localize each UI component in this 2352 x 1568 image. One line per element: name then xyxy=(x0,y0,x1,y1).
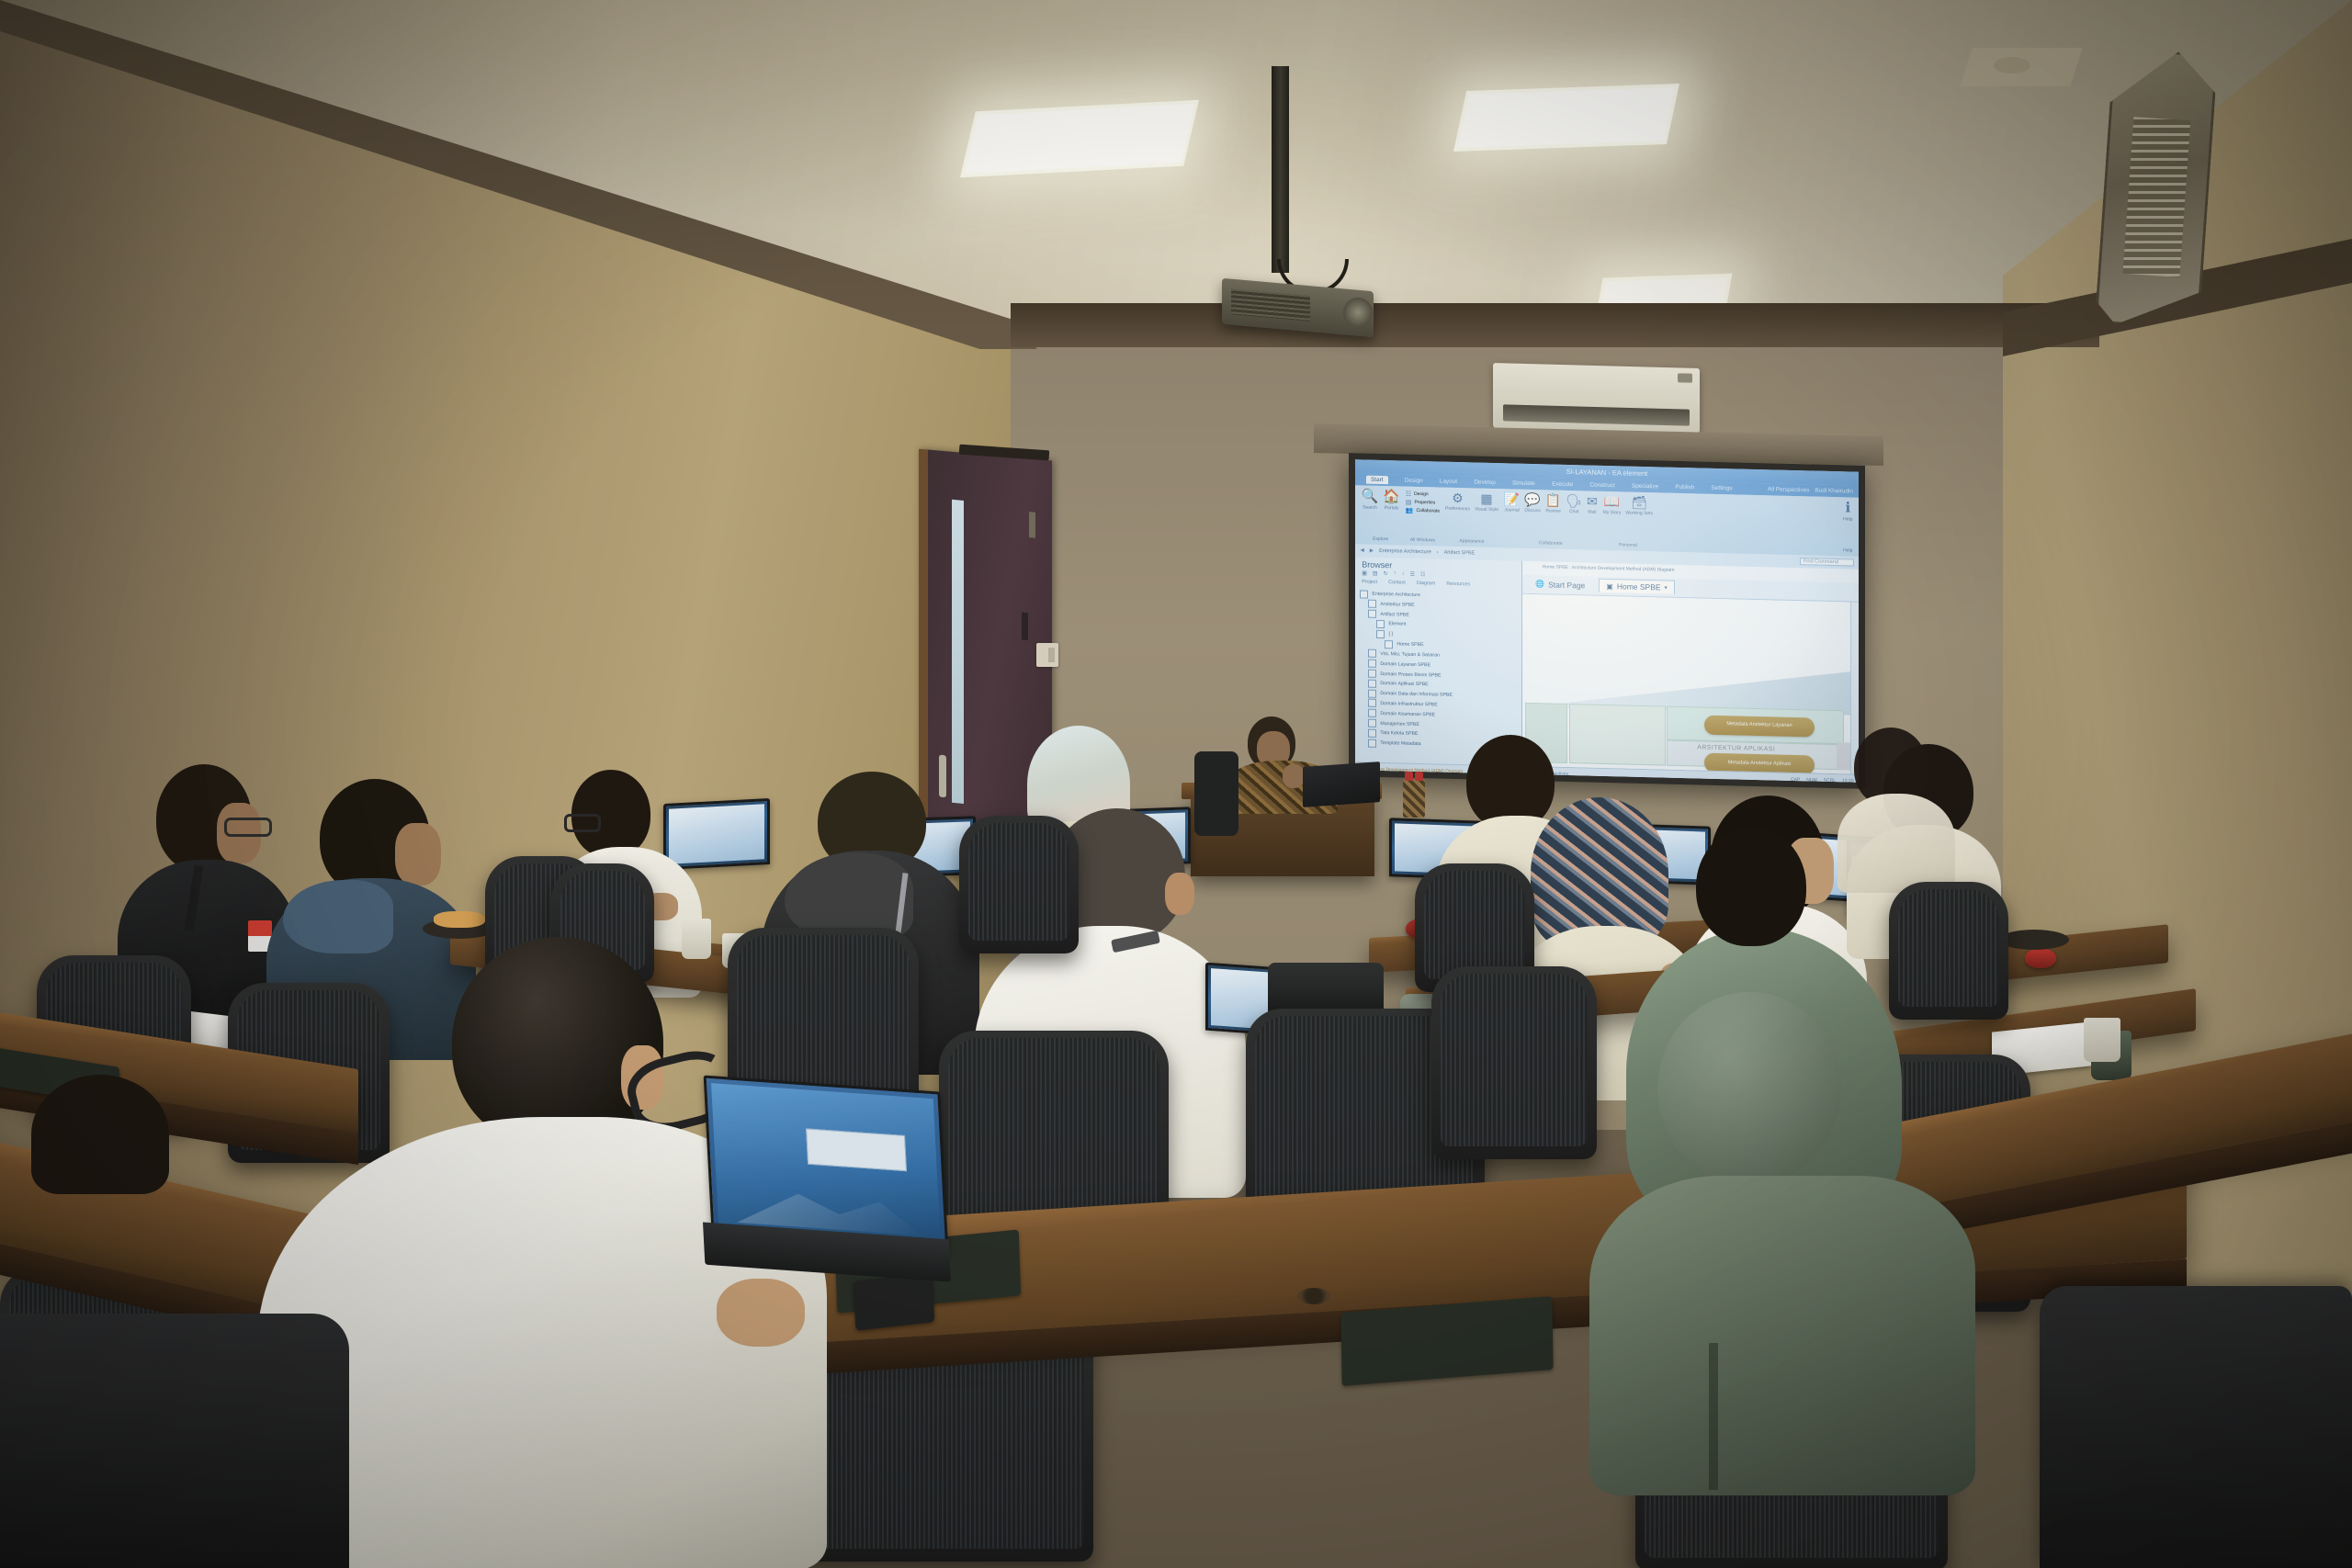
drinking-glass xyxy=(2084,1018,2120,1062)
desktop-dialog-window xyxy=(806,1128,907,1171)
chair-foreground-right[interactable] xyxy=(2040,1286,2352,1568)
status-scrl: SCRL xyxy=(1824,777,1836,782)
plaque-engraving xyxy=(2122,117,2190,277)
browser-tab-diagram[interactable]: Diagram xyxy=(1417,581,1435,586)
perspective-selector[interactable]: All Perspectives xyxy=(1768,486,1809,493)
note-icon[interactable]: 📝 Journal xyxy=(1504,492,1520,513)
head xyxy=(31,1075,169,1194)
breadcrumb-leaf[interactable]: Artifact SPBE xyxy=(1444,550,1476,557)
tab-publish[interactable]: Publish xyxy=(1675,484,1694,491)
projector-lens-icon xyxy=(1343,298,1373,327)
package-icon xyxy=(1368,679,1376,687)
light-switch[interactable] xyxy=(1036,643,1058,667)
search-icon[interactable]: 🔍 Search xyxy=(1362,489,1379,510)
ribbon-group-all-windows: ☷ Design ▤ Properties 👥 Collaborate All … xyxy=(1406,490,1440,543)
person-green-jacket xyxy=(1589,928,1984,1497)
head xyxy=(1696,827,1806,946)
tab-design[interactable]: Design xyxy=(1405,478,1423,484)
home-icon[interactable]: 🏠 Portals xyxy=(1383,490,1400,511)
document-path-label: Home SPBE : Architecture Development Met… xyxy=(1543,565,1675,574)
back-icon[interactable]: ◀ xyxy=(1360,548,1363,554)
presenter-hand xyxy=(1283,764,1305,788)
browser-tab-resources[interactable]: Resources xyxy=(1446,581,1470,588)
tab-home-spbe[interactable]: ▣ Home SPBE ▾ xyxy=(1599,579,1674,594)
ea-main-body: Browser ▣ ▤ ↻ ↑ ↓ ☰ ☷ Project Context Di… xyxy=(1355,557,1859,773)
office-chair[interactable] xyxy=(959,816,1079,953)
properties-icon[interactable]: ☷ xyxy=(1420,571,1425,578)
globe-icon: 🌐 xyxy=(1535,580,1544,588)
jacket-seam xyxy=(1709,1343,1718,1490)
projection-screen: SI-LAYANAN - EA element Start Design Lay… xyxy=(1349,453,1865,789)
status-num: NUM xyxy=(1806,777,1816,783)
chat-pair-icon[interactable]: 💬 Discuss xyxy=(1524,492,1541,513)
tab-specialize[interactable]: Specialize xyxy=(1632,483,1658,491)
status-cap: CAP xyxy=(1791,777,1800,783)
package-icon xyxy=(1368,670,1376,678)
desk-pad xyxy=(1340,1296,1553,1386)
hood-fold xyxy=(1657,992,1841,1185)
tab-simulate[interactable]: Simulate xyxy=(1512,480,1535,488)
new-diagram-icon[interactable]: ▣ xyxy=(1362,570,1367,576)
panel-icon[interactable]: ▤ xyxy=(1406,498,1412,505)
chat-icon[interactable]: 🗣 Chat xyxy=(1566,494,1582,514)
tab-start-page[interactable]: 🌐 Start Page xyxy=(1529,578,1591,592)
move-up-icon[interactable]: ↑ xyxy=(1394,570,1396,577)
thermos-cap xyxy=(1415,772,1423,781)
braces-icon xyxy=(1376,630,1385,638)
refresh-icon[interactable]: ↻ xyxy=(1384,570,1388,577)
move-down-icon[interactable]: ↓ xyxy=(1402,570,1405,577)
ribbon-group-explore: 🔍 Search 🏠 Portals Explore xyxy=(1362,489,1400,542)
package-icon xyxy=(1368,729,1376,738)
door-vision-panel xyxy=(952,500,964,804)
window-icon[interactable]: ☷ xyxy=(1406,490,1411,497)
projector-mount-pole xyxy=(1272,66,1289,273)
door-lock-plate xyxy=(1022,612,1028,640)
snack-plate xyxy=(1999,930,2069,950)
chair-foreground-left[interactable] xyxy=(0,1314,349,1568)
package-icon xyxy=(1368,699,1376,707)
presenter-laptop xyxy=(1303,761,1380,807)
group-label: Appearance xyxy=(1460,538,1485,545)
ribbon-group-collaborate: 📝 Journal 💬 Discuss 📋 Review 🗣 xyxy=(1504,492,1598,547)
ceiling-light-panel xyxy=(960,100,1199,177)
chevron-right-icon: › xyxy=(1437,550,1439,556)
package-icon xyxy=(1368,689,1376,697)
switch-toggle[interactable] xyxy=(1048,648,1055,662)
browser-tab-context[interactable]: Context xyxy=(1388,580,1406,585)
ribbon-group-personal: 📖 My Diary 🗃 Working Sets Personal xyxy=(1603,495,1653,549)
red-mouse[interactable] xyxy=(2025,948,2056,968)
mail-icon[interactable]: ✉ Mail xyxy=(1587,494,1598,514)
ribbon-group-appearance: ⚙ Preferences ▦ Visual Style Appearance xyxy=(1445,491,1498,545)
filter-icon[interactable]: ☰ xyxy=(1410,570,1415,577)
forward-icon[interactable]: ▶ xyxy=(1370,548,1374,554)
tab-start[interactable]: Start xyxy=(1366,476,1388,485)
find-command-input[interactable]: Find Command xyxy=(1800,558,1854,566)
diagram-icon: ▣ xyxy=(1606,582,1613,591)
package-icon xyxy=(1368,660,1376,668)
tab-layout[interactable]: Layout xyxy=(1440,479,1457,485)
book-icon[interactable]: 📖 My Diary xyxy=(1603,495,1622,515)
group-label: All Windows xyxy=(1410,537,1435,544)
ac-vent xyxy=(1503,404,1690,426)
ribbon-group-help: ℹ Help Help xyxy=(1843,501,1852,554)
office-chair[interactable] xyxy=(1431,966,1597,1159)
folder-icon xyxy=(1360,590,1368,598)
training-room-photo: SI-LAYANAN - EA element Start Design Lay… xyxy=(0,0,2352,1568)
package-icon xyxy=(1368,739,1376,747)
palette-icon[interactable]: ▦ Visual Style xyxy=(1475,491,1498,513)
snack-food xyxy=(434,911,485,928)
person-front-mid-dark xyxy=(4,1075,279,1350)
person-far-right-pair xyxy=(1837,728,1957,893)
projected-image: SI-LAYANAN - EA element Start Design Lay… xyxy=(1355,459,1859,782)
tab-construct[interactable]: Construct xyxy=(1589,482,1614,490)
diagram-icon xyxy=(1385,640,1393,649)
face-profile xyxy=(395,823,441,886)
browser-tab-project[interactable]: Project xyxy=(1362,580,1377,585)
eyeglasses-icon xyxy=(564,814,601,832)
group-label: Explore xyxy=(1373,536,1388,542)
pill-metadata-arsitektur-layanan[interactable]: Metadata Arsitektur Layanan xyxy=(1704,716,1815,738)
element-icon xyxy=(1376,620,1385,628)
review-icon[interactable]: 📋 Review xyxy=(1545,493,1561,513)
gear-person-icon[interactable]: ⚙ Preferences xyxy=(1445,491,1470,512)
user-account-label[interactable]: Budi Khairudin xyxy=(1815,488,1853,495)
ea-app-title: SI-LAYANAN - EA element xyxy=(1566,468,1648,478)
thermos-cap xyxy=(1405,772,1413,781)
package-icon xyxy=(1368,600,1376,608)
new-package-icon[interactable]: ▤ xyxy=(1373,570,1378,576)
smartphone[interactable] xyxy=(854,1272,935,1331)
tab-develop[interactable]: Develop xyxy=(1474,479,1495,487)
cable-grommet xyxy=(1297,1288,1330,1304)
group-label: Personal xyxy=(1619,542,1637,547)
package-icon xyxy=(1368,709,1376,717)
tab-execute[interactable]: Execute xyxy=(1552,481,1573,489)
project-tree[interactable]: Enterprise Architecture Arsitektur SPBE … xyxy=(1355,590,1521,751)
package-icon xyxy=(1368,649,1376,658)
ear xyxy=(1165,873,1194,915)
package-icon xyxy=(1368,719,1376,728)
light-shirt xyxy=(1837,794,1955,893)
ceiling-light-panel xyxy=(1453,84,1679,152)
package-icon xyxy=(1368,610,1376,618)
eyeglasses-icon xyxy=(224,818,272,837)
ac-brand-icon xyxy=(1678,373,1692,382)
thermos-flask xyxy=(1403,779,1425,818)
smoke-detector-icon xyxy=(1994,57,2030,73)
group-label: Collaborate xyxy=(1539,540,1563,547)
olive-jacket xyxy=(1589,1176,1975,1495)
breadcrumb-root[interactable]: Enterprise Architecture xyxy=(1379,548,1431,555)
person-behind-green-jacket xyxy=(1687,827,1852,992)
hand xyxy=(717,1279,805,1347)
cards-icon[interactable]: 🗃 Working Sets xyxy=(1625,495,1653,516)
people-icon[interactable]: 👥 xyxy=(1406,506,1414,513)
air-conditioner xyxy=(1493,363,1700,434)
door-hinge-strip xyxy=(1029,512,1035,538)
group-label: Help xyxy=(1843,547,1852,553)
tab-dropdown-icon[interactable]: ▾ xyxy=(1665,584,1668,591)
tab-settings[interactable]: Settings xyxy=(1712,485,1733,492)
help-icon[interactable]: ℹ Help xyxy=(1843,501,1852,522)
ceiling-beam-back xyxy=(1011,303,2099,347)
